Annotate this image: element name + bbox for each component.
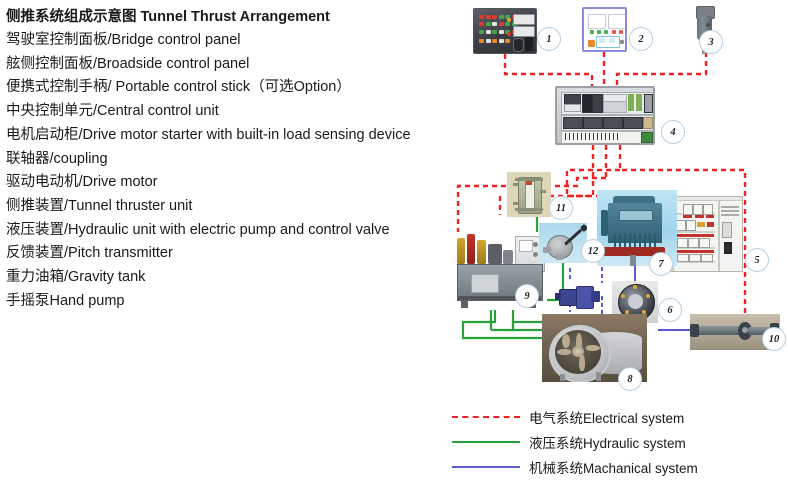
list-item-hand-pump: 手摇泵Hand pump (6, 290, 456, 314)
component-list: 侧推系统组成示意图 Tunnel Thrust Arrangement 驾驶室控… (6, 6, 456, 313)
gravity-tank[interactable] (507, 172, 551, 217)
badge-6: 6 (658, 298, 682, 322)
badge-5: 5 (745, 248, 769, 272)
diagram-page: 侧推系统组成示意图 Tunnel Thrust Arrangement 驾驶室控… (0, 0, 788, 490)
central-control-unit[interactable] (555, 86, 655, 145)
badge-8: 8 (618, 367, 642, 391)
badge-9: 9 (515, 284, 539, 308)
drive-motor-starter[interactable] (669, 196, 743, 272)
list-item-central-control-unit: 中央控制单元/Central control unit (6, 100, 456, 124)
page-title: 侧推系统组成示意图 Tunnel Thrust Arrangement (6, 6, 456, 29)
list-item-bridge-control-panel: 驾驶室控制面板/Bridge control panel (6, 29, 456, 53)
badge-10: 10 (762, 327, 786, 351)
badge-2: 2 (629, 27, 653, 51)
legend-row-mechanical: 机械系统Machanical system (452, 454, 782, 479)
badge-7: 7 (649, 252, 673, 276)
list-item-hydraulic-unit: 液压装置/Hydraulic unit with electric pump a… (6, 219, 456, 243)
list-item-drive-motor-starter: 电机启动柜/Drive motor starter with built-in … (6, 124, 456, 148)
badge-12: 12 (581, 239, 605, 263)
legend-row-electrical: 电气系统Electrical system (452, 404, 782, 429)
badge-3: 3 (699, 30, 723, 54)
legend-label-hydraulic: 液压系统Hydraulic system (529, 432, 686, 452)
list-item-portable-control-stick: 便携式控制手柄/ Portable control stick（可选Option… (6, 76, 456, 100)
list-item-coupling: 联轴器/coupling (6, 148, 456, 172)
legend-label-electrical: 电气系统Electrical system (529, 407, 684, 427)
broadside-control-panel[interactable] (582, 7, 627, 52)
legend-key: 电气系统Electrical system 液压系统Hydraulic syst… (452, 404, 782, 479)
badge-11: 11 (549, 196, 573, 220)
hand-pump[interactable] (539, 223, 587, 263)
badge-4: 4 (661, 120, 685, 144)
legend-row-hydraulic: 液压系统Hydraulic system (452, 429, 782, 454)
badge-1: 1 (537, 27, 561, 51)
list-item-gravity-tank: 重力油箱/Gravity tank (6, 266, 456, 290)
list-item-tunnel-thruster-unit: 侧推装置/Tunnel thruster unit (6, 195, 456, 219)
list-item-pitch-transmitter: 反馈装置/Pitch transmitter (6, 242, 456, 266)
bridge-control-panel[interactable] (473, 8, 537, 54)
list-item-broadside-control-panel: 舷侧控制面板/Broadside control panel (6, 53, 456, 77)
shaft-assembly (555, 282, 602, 313)
legend-label-mechanical: 机械系统Machanical system (529, 457, 698, 477)
system-diagram: 1 2 3 (455, 0, 788, 400)
list-item-drive-motor: 驱动电动机/Drive motor (6, 171, 456, 195)
